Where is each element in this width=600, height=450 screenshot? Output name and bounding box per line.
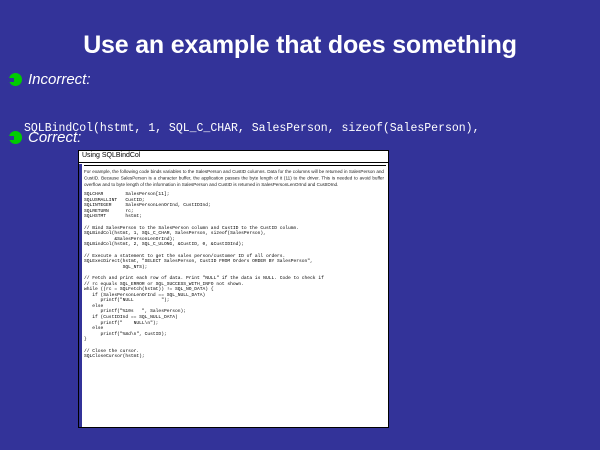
embedded-window-content: For example, the following code binds va… [84, 165, 386, 426]
bullet-label-correct: Correct: [28, 129, 81, 146]
embedded-paragraph: For example, the following code binds va… [84, 169, 384, 188]
code-line-1: SQLBindCol(hstmt, 1, SQL_C_CHAR, SalesPe… [24, 121, 584, 136]
bullet-item-correct: Correct: [9, 129, 81, 146]
embedded-window-titlebar: Using SQLBindCol [79, 151, 388, 163]
embedded-documentation-screenshot: Using SQLBindCol For example, the follow… [78, 150, 389, 428]
presentation-slide: Use an example that does something Incor… [0, 0, 600, 450]
embedded-window-title: Using SQLBindCol [82, 152, 140, 159]
arrow-disc-bullet-icon [9, 131, 22, 144]
arrow-disc-bullet-icon [9, 73, 22, 86]
slide-title: Use an example that does something [0, 31, 600, 60]
bullet-label-incorrect: Incorrect: [28, 71, 91, 88]
horizontal-rule [84, 165, 386, 166]
embedded-window-left-margin [79, 164, 82, 428]
embedded-code-listing: SQLCHAR SalesPerson[11];SQLUSMALLINT Cus… [84, 192, 386, 360]
embedded-code-line: SQLCloseCursor(hstmt); [84, 354, 386, 360]
bullet-item-incorrect: Incorrect: [9, 71, 91, 88]
